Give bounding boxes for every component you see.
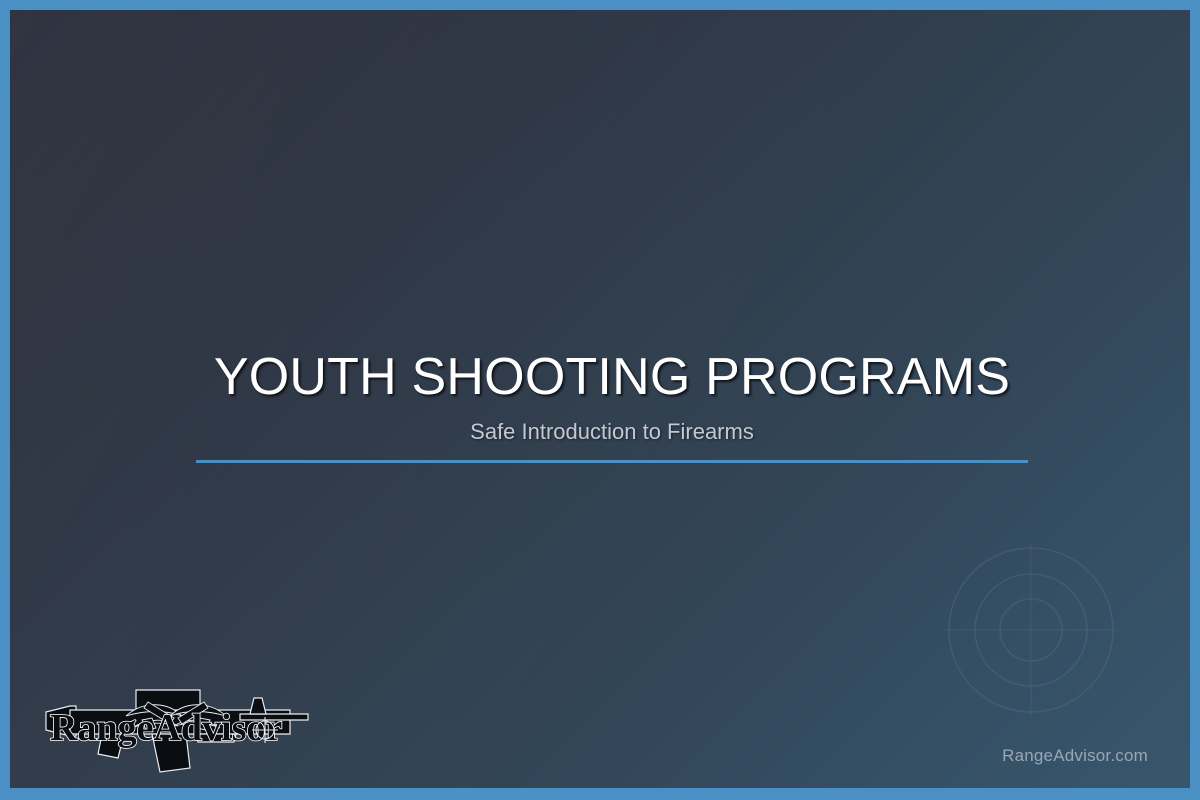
page-title: YOUTH SHOOTING PROGRAMS <box>196 348 1028 406</box>
title-divider <box>196 460 1028 463</box>
brand-logo-wordmark: RangeAdvisor <box>50 707 282 749</box>
slide-canvas: YOUTH SHOOTING PROGRAMS Safe Introductio… <box>10 10 1190 788</box>
footer-url: RangeAdvisor.com <box>1002 746 1148 766</box>
crosshair-target-icon <box>931 530 1131 730</box>
brand-logo: RangeAdvisor <box>40 676 312 776</box>
presentation-slide: YOUTH SHOOTING PROGRAMS Safe Introductio… <box>0 0 1200 800</box>
slide-subtitle: Safe Introduction to Firearms <box>196 418 1028 446</box>
title-block: YOUTH SHOOTING PROGRAMS Safe Introductio… <box>196 348 1028 463</box>
